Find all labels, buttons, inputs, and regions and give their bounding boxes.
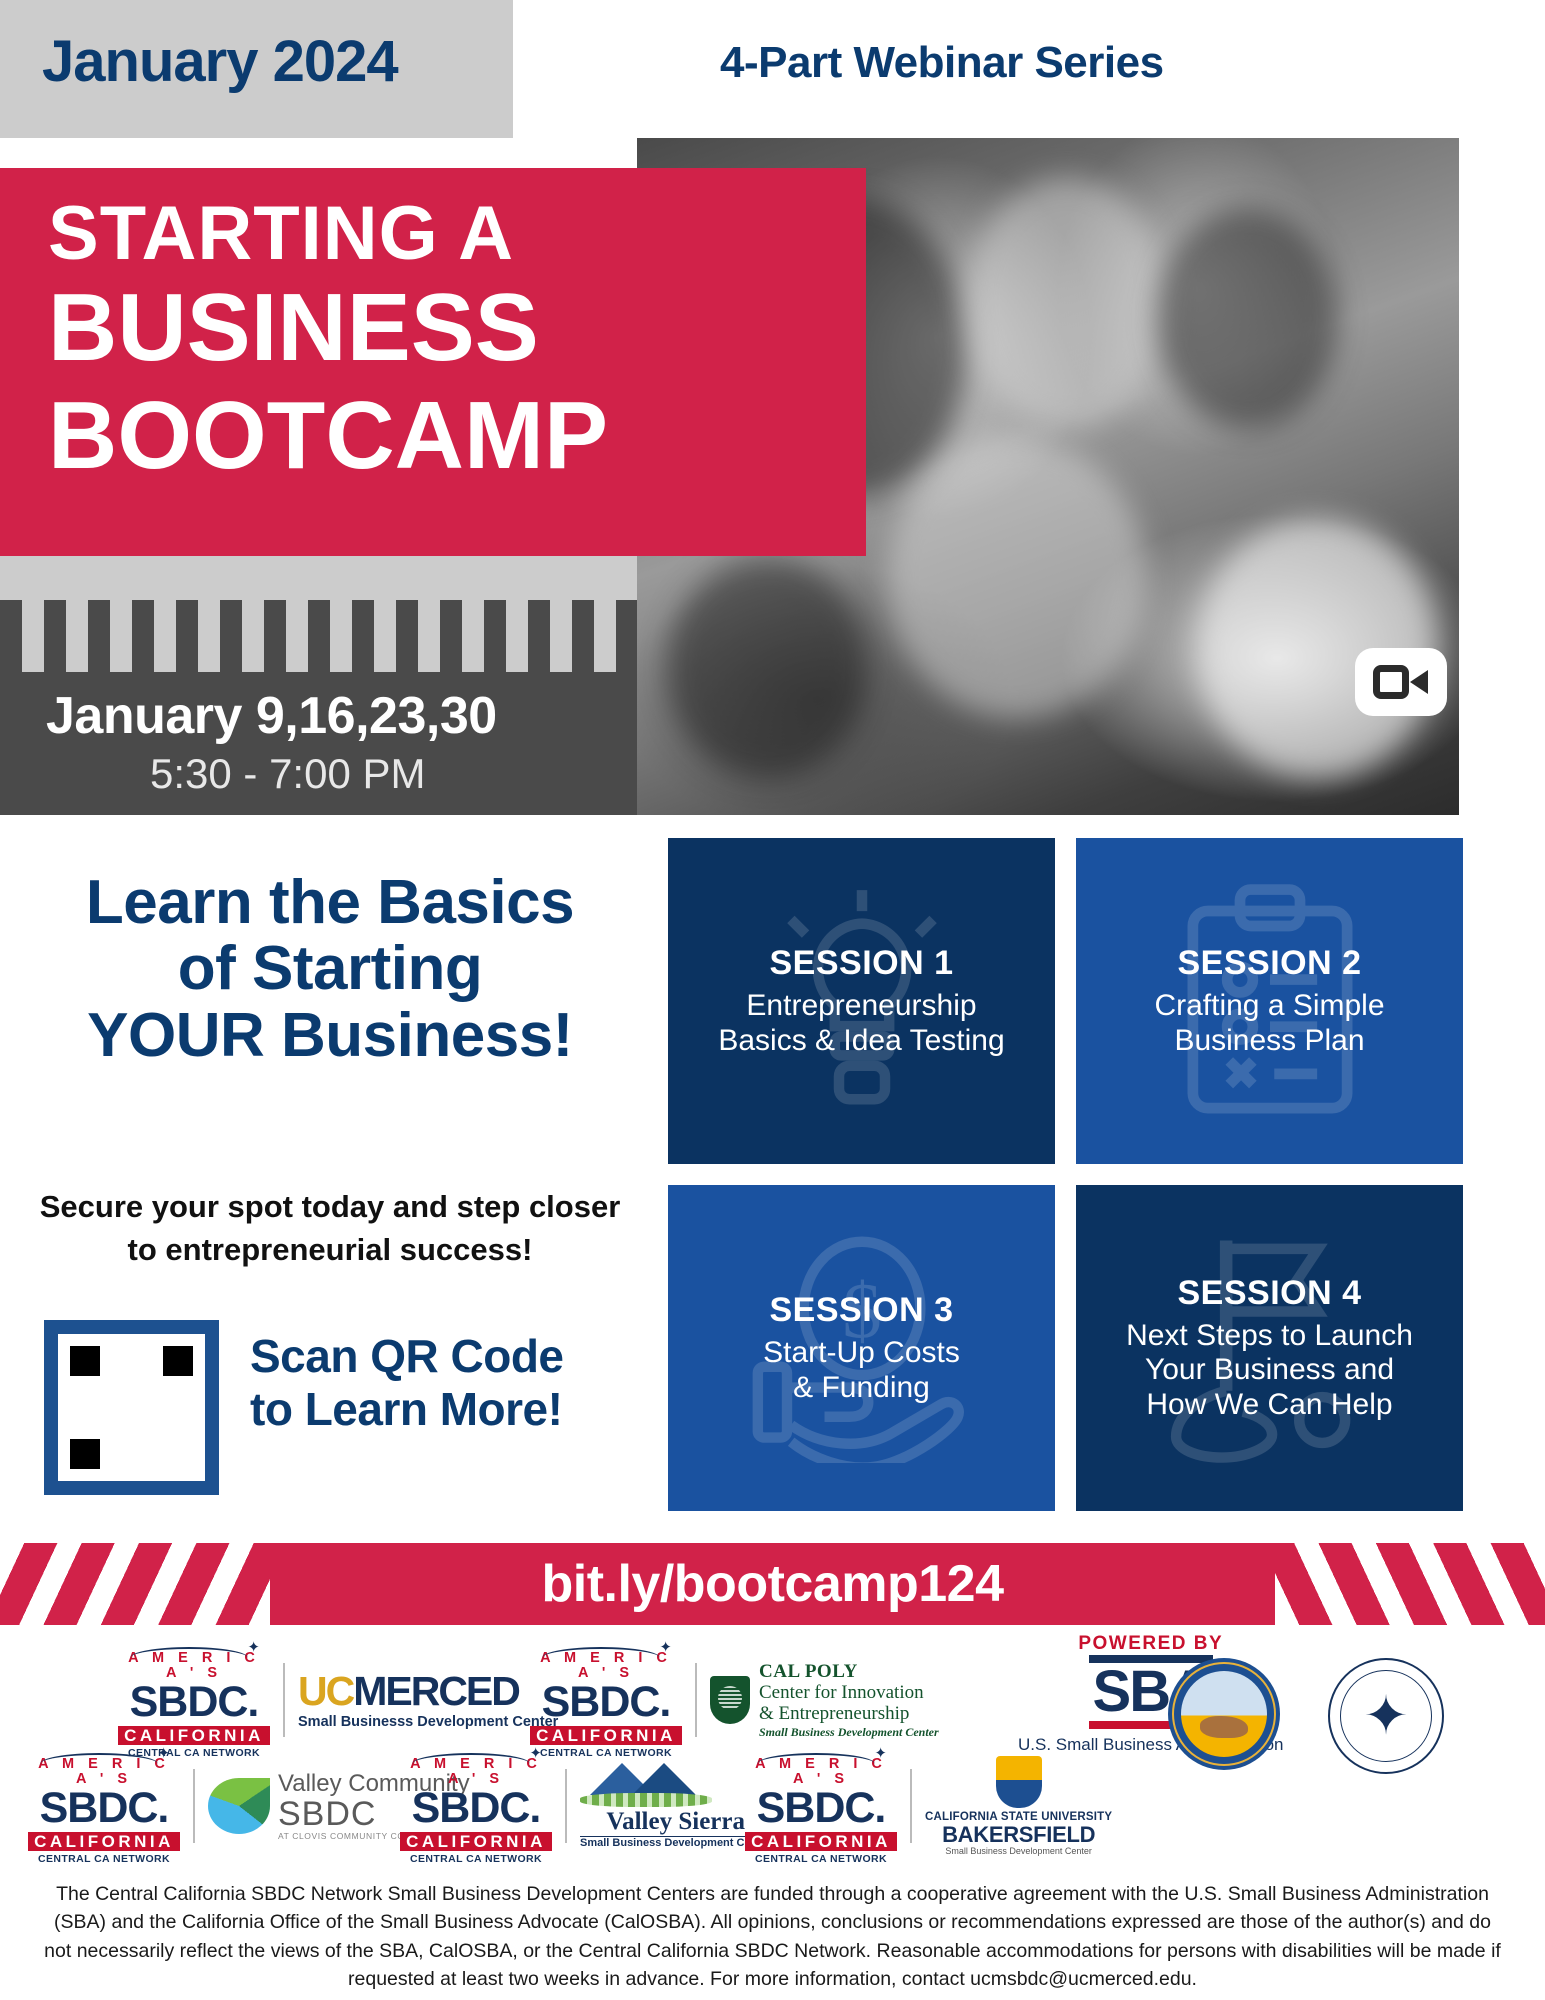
accredited-member-seal-icon: ✦: [1328, 1658, 1444, 1774]
logo-divider: [695, 1663, 697, 1737]
logo-uc-merced: UCMERCED Small Businesss Development Cen…: [298, 1671, 558, 1730]
session-3-sub-line-2: & Funding: [763, 1371, 960, 1406]
scan-line-2: to Learn More!: [250, 1383, 620, 1436]
logo-sbdc-california-4: ✦ A M E R I C A ' S SBDC. CALIFORNIA CEN…: [400, 1748, 552, 1865]
logo-calosba-seal: [1168, 1658, 1280, 1770]
session-card-4: SESSION 4 Next Steps to Launch Your Busi…: [1076, 1185, 1463, 1511]
headline-line-1: Learn the Basics: [40, 870, 620, 936]
logo-group-sbdc-bakersfield: ✦ A M E R I C A ' S SBDC. CALIFORNIA CEN…: [745, 1748, 1112, 1865]
cal-poly-shield-icon: [710, 1676, 750, 1724]
title-red-block: STARTING A BUSINESS BOOTCAMP: [0, 168, 866, 556]
logo-sbdc-california-2: ✦ A M E R I C A ' S SBDC. CALIFORNIA CEN…: [530, 1642, 682, 1759]
session-1-title: SESSION 1: [769, 944, 953, 983]
date-time-block: January 9,16,23,30 5:30 - 7:00 PM: [0, 672, 637, 815]
qr-code[interactable]: [44, 1320, 219, 1495]
page-headline: Learn the Basics of Starting YOUR Busine…: [40, 870, 620, 1069]
header-series: 4-Part Webinar Series: [720, 38, 1164, 88]
logo-sbdc-california-3: ✦ A M E R I C A ' S SBDC. CALIFORNIA CEN…: [28, 1748, 180, 1865]
logo-group-sbdc-valley-sierra: ✦ A M E R I C A ' S SBDC. CALIFORNIA CEN…: [400, 1748, 771, 1865]
header-month: January 2024: [42, 28, 502, 95]
session-2-sub-line-1: Crafting a Simple: [1154, 989, 1384, 1024]
zoom-video-camera-icon: [1355, 648, 1447, 716]
logo-divider: [565, 1769, 567, 1843]
session-2-title: SESSION 2: [1177, 944, 1361, 983]
logo-group-sbdc-calpoly: ✦ A M E R I C A ' S SBDC. CALIFORNIA CEN…: [530, 1642, 939, 1759]
session-4-subtitle: Next Steps to Launch Your Business and H…: [1126, 1319, 1413, 1423]
session-4-sub-line-1: Next Steps to Launch: [1126, 1319, 1413, 1354]
sessions-grid: SESSION 1 Entrepreneurship Basics & Idea…: [668, 838, 1463, 1511]
headline-line-2: of Starting: [40, 936, 620, 1002]
scan-line-1: Scan QR Code: [250, 1330, 620, 1383]
logo-divider: [283, 1663, 285, 1737]
session-1-sub-line-1: Entrepreneurship: [718, 989, 1004, 1024]
logo-accredited-member-seal: ✦: [1328, 1658, 1444, 1774]
valley-sierra-mountain-icon: [580, 1763, 712, 1807]
logo-divider: [910, 1769, 912, 1843]
session-1-subtitle: Entrepreneurship Basics & Idea Testing: [718, 989, 1004, 1058]
title-line-3: BOOTCAMP: [48, 388, 608, 484]
session-4-sub-line-2: Your Business and: [1126, 1353, 1413, 1388]
session-2-sub-line-2: Business Plan: [1154, 1024, 1384, 1059]
valley-community-leaf-icon: [208, 1778, 270, 1834]
logo-group-sbdc-ucmerced: ✦ A M E R I C A ' S SBDC. CALIFORNIA CEN…: [118, 1642, 558, 1759]
session-card-3: $ SESSION 3 Start-Up Costs & Funding: [668, 1185, 1055, 1511]
headline-line-3: YOUR Business!: [40, 1003, 620, 1069]
logo-sbdc-california-5: ✦ A M E R I C A ' S SBDC. CALIFORNIA CEN…: [745, 1748, 897, 1865]
logo-sbdc-california: ✦ A M E R I C A ' S SBDC. CALIFORNIA CEN…: [118, 1642, 270, 1759]
session-3-subtitle: Start-Up Costs & Funding: [763, 1336, 960, 1405]
hero-right-margin: [1459, 138, 1545, 815]
event-time: 5:30 - 7:00 PM: [150, 750, 425, 798]
logo-csu-bakersfield-sbdc: CALIFORNIA STATE UNIVERSITY BAKERSFIELD …: [925, 1756, 1112, 1857]
session-3-sub-line-1: Start-Up Costs: [763, 1336, 960, 1371]
csub-shield-icon: [996, 1756, 1042, 1808]
logo-divider: [193, 1769, 195, 1843]
title-line-2: BUSINESS: [48, 280, 539, 376]
left-gray-strip: [0, 556, 637, 600]
flyer-page: January 2024 4-Part Webinar Series START…: [0, 0, 1545, 2000]
sponsor-logo-bar: ✦ A M E R I C A ' S SBDC. CALIFORNIA CEN…: [0, 1628, 1545, 1868]
session-4-sub-line-3: How We Can Help: [1126, 1388, 1413, 1423]
registration-url[interactable]: bit.ly/bootcamp124: [0, 1543, 1545, 1625]
session-card-1: SESSION 1 Entrepreneurship Basics & Idea…: [668, 838, 1055, 1164]
logo-cal-poly-cie: CAL POLY Center for Innovation & Entrepr…: [710, 1661, 939, 1740]
logo-valley-sierra-sbdc: Valley Sierra Small Business Development…: [580, 1763, 771, 1849]
funding-disclaimer: The Central California SBDC Network Smal…: [40, 1880, 1505, 1993]
event-dates: January 9,16,23,30: [46, 686, 497, 746]
title-line-1: STARTING A: [48, 196, 514, 272]
session-1-sub-line-2: Basics & Idea Testing: [718, 1024, 1004, 1059]
session-card-2: SESSION 2 Crafting a Simple Business Pla…: [1076, 838, 1463, 1164]
session-4-title: SESSION 4: [1177, 1274, 1361, 1313]
calosba-seal-icon: [1168, 1658, 1280, 1770]
checker-band-row2: [0, 636, 637, 672]
secure-spot-text: Secure your spot today and step closer t…: [30, 1185, 630, 1272]
registration-url-banner[interactable]: bit.ly/bootcamp124: [0, 1543, 1545, 1625]
scan-qr-text: Scan QR Code to Learn More!: [250, 1330, 620, 1436]
session-2-subtitle: Crafting a Simple Business Plan: [1154, 989, 1384, 1058]
session-3-title: SESSION 3: [769, 1291, 953, 1330]
